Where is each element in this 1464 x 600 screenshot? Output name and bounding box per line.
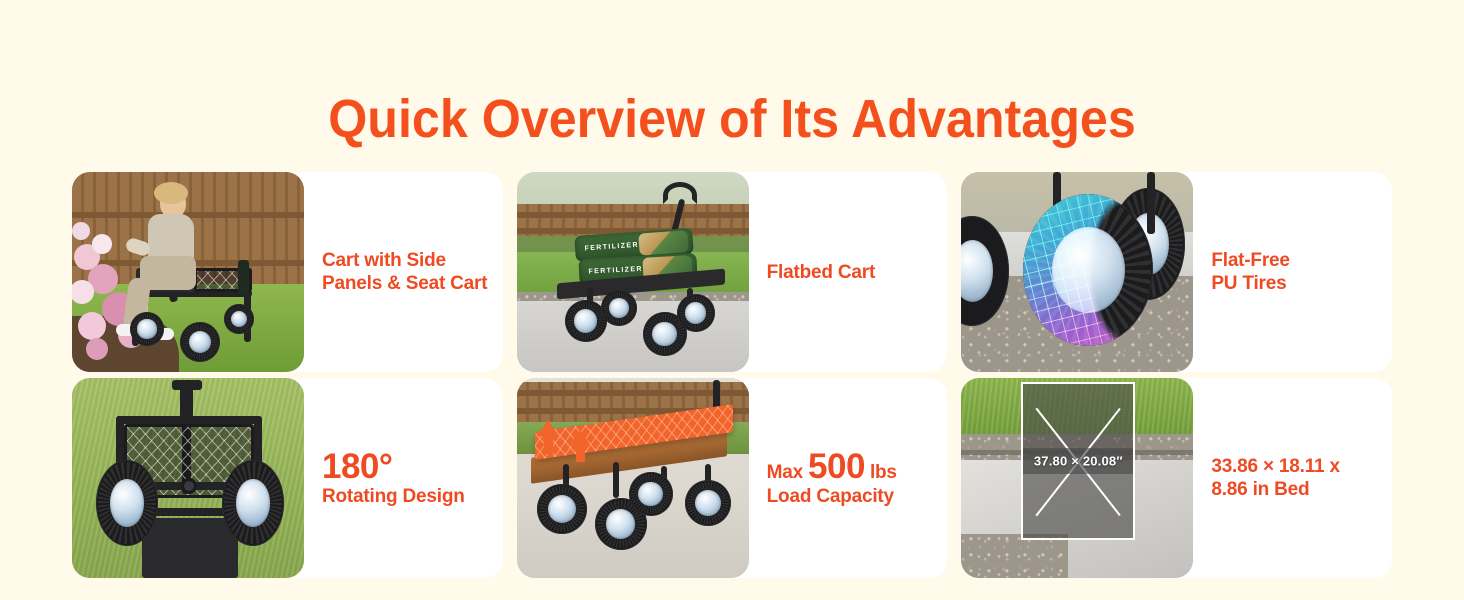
feature-label-line1: Flatbed Cart <box>767 261 875 284</box>
cart-bed-lift-illustration <box>517 378 749 578</box>
feature-card-cart-with-side-panels-seat-cart[interactable]: Cart with Side Panels & Seat Cart <box>72 172 503 372</box>
feature-label-line1: Flat-Free <box>1211 249 1289 272</box>
feature-grid: Cart with Side Panels & Seat Cart <box>72 172 1392 578</box>
feature-label-stat: Max 500 lbs <box>767 449 897 485</box>
flatbed-cart-illustration: FERTILIZER FERTILIZER <box>517 172 749 372</box>
feature-image-bed-dimensions: 37.80 × 20.08″ <box>961 378 1193 578</box>
feature-text-flatbed-cart: Flatbed Cart <box>749 172 948 372</box>
feature-text-flat-free-pu-tires: Flat-Free PU Tires <box>1193 172 1392 372</box>
pu-tire-closeup-illustration <box>961 172 1193 372</box>
dimension-overlay-box: 37.80 × 20.08″ <box>1021 382 1135 540</box>
dimension-overlay-label: 37.80 × 20.08″ <box>1023 454 1133 469</box>
feature-label: Max 500 lbs Load Capacity <box>767 449 897 508</box>
rear-view-cart-illustration <box>72 378 304 578</box>
feature-label-line1: Cart with Side <box>322 249 487 272</box>
feature-label-suffix: lbs <box>870 461 897 484</box>
feature-card-max-500-lbs-load-capacity[interactable]: Max 500 lbs Load Capacity <box>517 378 948 578</box>
feature-card-flatbed-cart[interactable]: FERTILIZER FERTILIZER Flatbed Cart <box>517 172 948 372</box>
feature-label-value: 180° <box>322 449 465 485</box>
feature-text-180-rotating-design: 180° Rotating Design <box>304 378 503 578</box>
feature-label-line2: PU Tires <box>1211 272 1289 295</box>
feature-text-bed-dimensions: 33.86 × 18.11 x 8.86 in Bed <box>1193 378 1392 578</box>
bed-footprint-illustration: 37.80 × 20.08″ <box>961 378 1193 578</box>
feature-image-cart-with-side-panels-seat-cart <box>72 172 304 372</box>
feature-card-flat-free-pu-tires[interactable]: Flat-Free PU Tires <box>961 172 1392 372</box>
feature-label: 33.86 × 18.11 x 8.86 in Bed <box>1211 455 1340 501</box>
feature-label-line1: 33.86 × 18.11 x <box>1211 455 1340 478</box>
feature-label-value: 500 <box>808 449 865 485</box>
feature-label-line2: Rotating Design <box>322 485 465 508</box>
feature-image-180-rotating-design <box>72 378 304 578</box>
feature-label-line2: Load Capacity <box>767 485 897 508</box>
feature-text-max-500-lbs-load-capacity: Max 500 lbs Load Capacity <box>749 378 948 578</box>
feature-image-max-500-lbs-load-capacity <box>517 378 749 578</box>
feature-label: Cart with Side Panels & Seat Cart <box>322 249 487 295</box>
feature-text-cart-with-side-panels-seat-cart: Cart with Side Panels & Seat Cart <box>304 172 503 372</box>
feature-label: Flat-Free PU Tires <box>1211 249 1289 295</box>
garden-seat-cart-illustration <box>72 172 304 372</box>
feature-image-flat-free-pu-tires <box>961 172 1193 372</box>
feature-label-line2: 8.86 in Bed <box>1211 478 1340 501</box>
feature-card-180-rotating-design[interactable]: 180° Rotating Design <box>72 378 503 578</box>
feature-label: Flatbed Cart <box>767 261 875 284</box>
page-title: Quick Overview of Its Advantages <box>51 88 1413 150</box>
feature-label-line2: Panels & Seat Cart <box>322 272 487 295</box>
feature-image-flatbed-cart: FERTILIZER FERTILIZER <box>517 172 749 372</box>
feature-label-prefix: Max <box>767 461 803 484</box>
feature-label: 180° Rotating Design <box>322 449 465 508</box>
feature-card-bed-dimensions[interactable]: 37.80 × 20.08″ 33.86 × 18.11 x 8.86 in B… <box>961 378 1392 578</box>
